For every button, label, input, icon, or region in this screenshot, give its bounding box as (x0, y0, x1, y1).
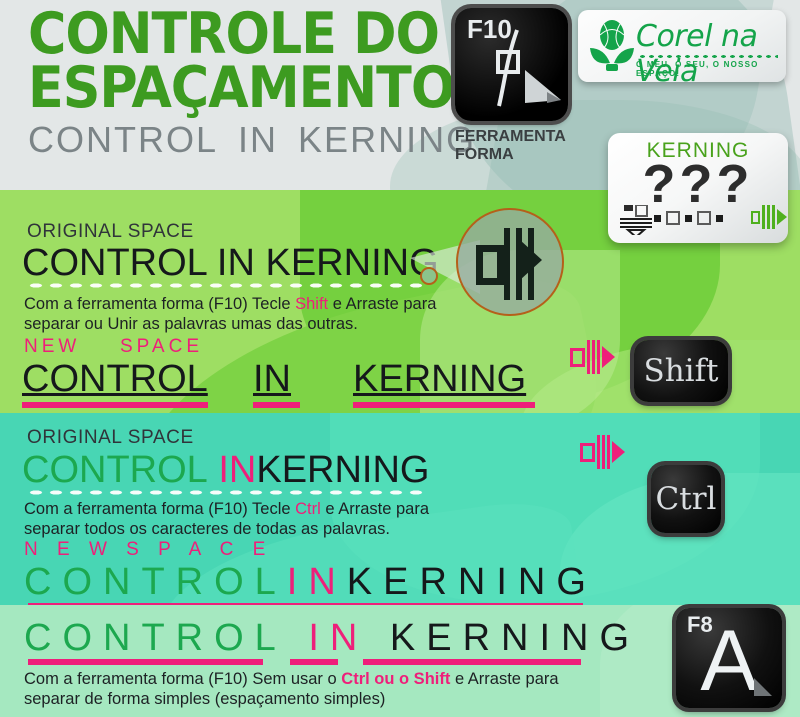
kerning-glyph-shift (570, 340, 615, 374)
magnified-bar-1 (504, 228, 510, 300)
shift-keycap[interactable]: Shift (634, 340, 728, 402)
page-subtitle: CONTROL IN KERNING (28, 119, 458, 161)
section2-result-text: CONTROLINKERNING (24, 561, 597, 604)
section3-desc-key: Ctrl ou o Shift (341, 670, 450, 688)
section1-result-word3: KERNING (353, 358, 526, 401)
section1-original-label: ORIGINAL SPACE (27, 221, 194, 243)
kerning-card-node-row (654, 211, 723, 225)
section3-desc-after: e Arraste para (450, 670, 558, 688)
section2-node-row (26, 489, 426, 496)
magnifier-circle (456, 208, 564, 316)
section2-desc-key: Ctrl (295, 500, 321, 518)
section1-desc-line2: separar ou Unir as palavras umas das out… (24, 315, 358, 333)
f10-shape-tool-key[interactable]: F10 (455, 8, 568, 121)
page-title: CONTROLE DO ESPAÇAMENTO CONTROL IN KERNI… (28, 8, 458, 161)
section1-underline-3 (353, 402, 535, 408)
kerning-card-question-marks: ??? (608, 157, 788, 211)
corel-na-veia-logo[interactable]: Corel na Veia O MEU, O SEU, O NOSSO ESPA… (578, 10, 786, 82)
section2-desc-line2: separar todos os caracteres de todas as … (24, 520, 390, 538)
subtitle-word-control: CONTROL (28, 119, 218, 160)
section1-desc-before: Com a ferramenta forma (F10) Tecle (24, 295, 295, 313)
section3-result-word1: CONTROL (24, 617, 287, 659)
section2-result-word2: IN (287, 561, 347, 603)
balloon-icon (586, 18, 638, 76)
section2-description: Com a ferramenta forma (F10) Tecle Ctrl … (24, 499, 464, 539)
section2-desc-before: Com a ferramenta forma (F10) Tecle (24, 500, 295, 518)
ctrl-keycap[interactable]: Ctrl (651, 465, 721, 533)
f10-caption: FERRAMENTA FORMA (455, 128, 595, 163)
magnified-kerning-square (476, 245, 504, 285)
kerning-glyph-green (751, 205, 787, 229)
section1-description: Com a ferramenta forma (F10) Tecle Shift… (24, 294, 444, 334)
section2-original-word2: IN (218, 449, 256, 491)
infographic-page: CONTROLE DO ESPAÇAMENTO CONTROL IN KERNI… (0, 0, 800, 717)
section3-result-text: CONTROL IN KERNING (24, 617, 640, 660)
subtitle-word-kerning: KERNING (298, 119, 476, 160)
f10-caption-line2: FORMA (455, 146, 514, 163)
section3-underline-1 (28, 659, 263, 665)
section1-result-word1: CONTROL (22, 358, 208, 401)
section1-desc-after: e Arraste para (328, 295, 436, 313)
section1-new-label-a: NEW (24, 336, 80, 358)
f8-text-tool-key[interactable]: F8 A (676, 608, 782, 708)
kerning-glyph-ctrl (580, 435, 625, 469)
section2-new-label: N E W S P A C E (24, 539, 272, 561)
section2-original-label: ORIGINAL SPACE (27, 427, 194, 449)
section1-original-text: CONTROL IN KERNING (22, 242, 439, 285)
shape-tool-icon (455, 8, 568, 121)
section1-underline-2 (253, 402, 300, 408)
section1-result-word2: IN (253, 358, 291, 401)
kerning-question-card: KERNING ??? (608, 133, 788, 243)
logo-dot-rule (638, 54, 778, 59)
section3-desc-line2: separar de forma simples (espaçamento si… (24, 690, 385, 708)
section2-original-text: CONTROL INKERNING (22, 449, 430, 492)
kerning-baseline-icon (620, 205, 654, 235)
section3-underline-2 (290, 659, 338, 665)
section2-result-word1: CONTROL (24, 561, 287, 603)
title-line-1: CONTROLE DO (28, 8, 467, 60)
section3-desc-before: Com a ferramenta forma (F10) Sem usar o (24, 670, 341, 688)
section1-new-label-b: SPACE (120, 336, 203, 358)
section2-result-word3: KERNING (347, 561, 597, 603)
title-line-2: ESPAÇAMENTO (28, 62, 467, 114)
text-tool-corner-icon (676, 608, 782, 708)
section2-original-word1: CONTROL (22, 449, 208, 491)
section1-underline-1 (22, 402, 208, 408)
selected-node-marker (420, 267, 438, 285)
f10-caption-line1: FERRAMENTA (455, 128, 566, 145)
section1-desc-key: Shift (295, 295, 328, 313)
section2-desc-after: e Arraste para (321, 500, 429, 518)
section3-underline-3 (363, 659, 581, 665)
section3-result-word2: IN (308, 617, 368, 659)
section1-node-row (26, 282, 426, 289)
subtitle-word-in: IN (238, 119, 278, 160)
logo-tagline: O MEU, O SEU, O NOSSO ESPAÇO! (636, 60, 786, 78)
section3-description: Com a ferramenta forma (F10) Sem usar o … (24, 669, 624, 709)
section3-result-word3: KERNING (390, 617, 640, 659)
section2-original-word3: KERNING (256, 449, 429, 491)
magnified-kerning-arrow (520, 240, 542, 280)
